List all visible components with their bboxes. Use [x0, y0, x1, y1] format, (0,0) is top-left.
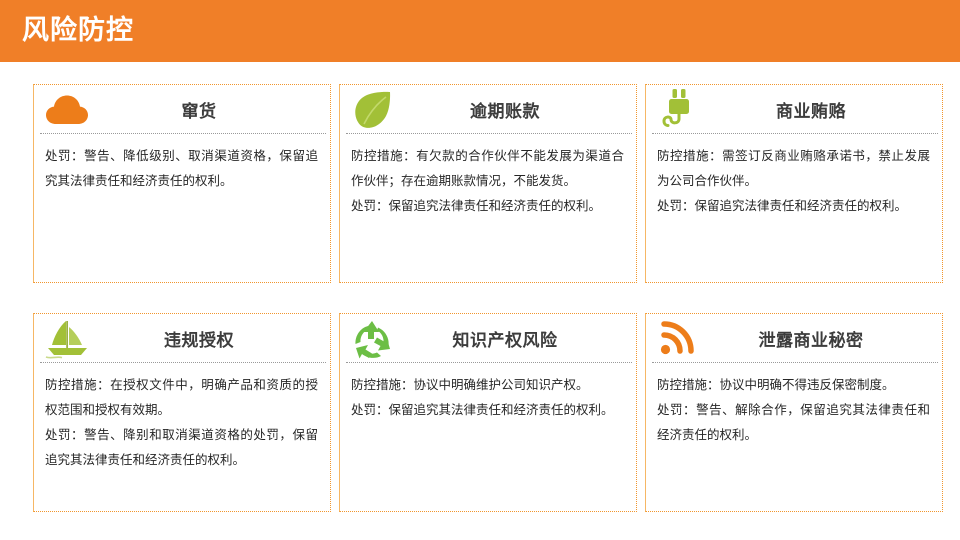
risk-card-ip-risk[interactable]: 知识产权风险 防控措施：协议中明确维护公司知识产权。 处罚：保留追究其法律责任和… — [339, 313, 637, 512]
card-header: 泄露商业秘密 — [646, 314, 942, 363]
header-bar: 风险防控 — [0, 0, 960, 62]
card-body: 处罚：警告、降低级别、取消渠道资格，保留追究其法律责任和经济责任的权利。 — [34, 134, 330, 193]
cloud-icon — [44, 88, 90, 132]
power-plug-icon — [656, 88, 702, 132]
card-line: 处罚：警告、解除合作，保留追究其法律责任和经济责任的权利。 — [657, 397, 930, 447]
card-line: 处罚：保留追究其法律责任和经济责任的权利。 — [351, 397, 624, 422]
leaf-icon — [350, 88, 396, 132]
card-line: 处罚：警告、降别和取消渠道资格的处罚，保留追究其法律责任和经济责任的权利。 — [45, 422, 318, 472]
card-header: 窜货 — [34, 85, 330, 134]
risk-card-illegal-authorization[interactable]: 违规授权 防控措施：在授权文件中，明确产品和资质的授权范围和授权有效期。 处罚：… — [33, 313, 331, 512]
card-header: 商业贿赂 — [646, 85, 942, 134]
card-title: 商业贿赂 — [702, 97, 942, 122]
risk-card-cuanhuo[interactable]: 窜货 处罚：警告、降低级别、取消渠道资格，保留追究其法律责任和经济责任的权利。 — [33, 84, 331, 283]
card-body: 防控措施：需签订反商业贿赂承诺书，禁止发展为公司合作伙伴。 处罚：保留追究法律责… — [646, 134, 942, 218]
card-title: 泄露商业秘密 — [702, 326, 942, 351]
card-line: 处罚：保留追究法律责任和经济责任的权利。 — [657, 193, 930, 218]
card-line: 防控措施：有欠款的合作伙伴不能发展为渠道合作伙伴；存在逾期账款情况，不能发货。 — [351, 143, 624, 193]
card-header: 逾期账款 — [340, 85, 636, 134]
card-line: 处罚：警告、降低级别、取消渠道资格，保留追究其法律责任和经济责任的权利。 — [45, 143, 318, 193]
risk-cards-grid: 窜货 处罚：警告、降低级别、取消渠道资格，保留追究其法律责任和经济责任的权利。 … — [33, 84, 927, 512]
risk-card-overdue-payment[interactable]: 逾期账款 防控措施：有欠款的合作伙伴不能发展为渠道合作伙伴；存在逾期账款情况，不… — [339, 84, 637, 283]
card-line: 防控措施：需签订反商业贿赂承诺书，禁止发展为公司合作伙伴。 — [657, 143, 930, 193]
recycle-icon — [350, 317, 396, 361]
card-header: 知识产权风险 — [340, 314, 636, 363]
card-line: 处罚：保留追究法律责任和经济责任的权利。 — [351, 193, 624, 218]
rss-signal-icon — [656, 317, 702, 361]
card-title: 知识产权风险 — [396, 326, 636, 351]
card-line: 防控措施：协议中明确维护公司知识产权。 — [351, 372, 624, 397]
card-title: 逾期账款 — [396, 97, 636, 122]
card-line: 防控措施：协议中明确不得违反保密制度。 — [657, 372, 930, 397]
risk-card-commercial-bribery[interactable]: 商业贿赂 防控措施：需签订反商业贿赂承诺书，禁止发展为公司合作伙伴。 处罚：保留… — [645, 84, 943, 283]
page-title: 风险防控 — [22, 14, 134, 48]
card-line: 防控措施：在授权文件中，明确产品和资质的授权范围和授权有效期。 — [45, 372, 318, 422]
card-title: 窜货 — [90, 97, 330, 122]
card-body: 防控措施：协议中明确维护公司知识产权。 处罚：保留追究其法律责任和经济责任的权利… — [340, 363, 636, 422]
card-body: 防控措施：在授权文件中，明确产品和资质的授权范围和授权有效期。 处罚：警告、降别… — [34, 363, 330, 472]
card-body: 防控措施：协议中明确不得违反保密制度。 处罚：警告、解除合作，保留追究其法律责任… — [646, 363, 942, 447]
card-title: 违规授权 — [90, 326, 330, 351]
card-header: 违规授权 — [34, 314, 330, 363]
sailboat-icon — [44, 317, 90, 361]
card-body: 防控措施：有欠款的合作伙伴不能发展为渠道合作伙伴；存在逾期账款情况，不能发货。 … — [340, 134, 636, 218]
slide-root: 风险防控 窜货 处罚：警告、降低级别、取消渠道资格，保留追究其法律责任和经济责任… — [0, 0, 960, 540]
risk-card-trade-secret-leak[interactable]: 泄露商业秘密 防控措施：协议中明确不得违反保密制度。 处罚：警告、解除合作，保留… — [645, 313, 943, 512]
